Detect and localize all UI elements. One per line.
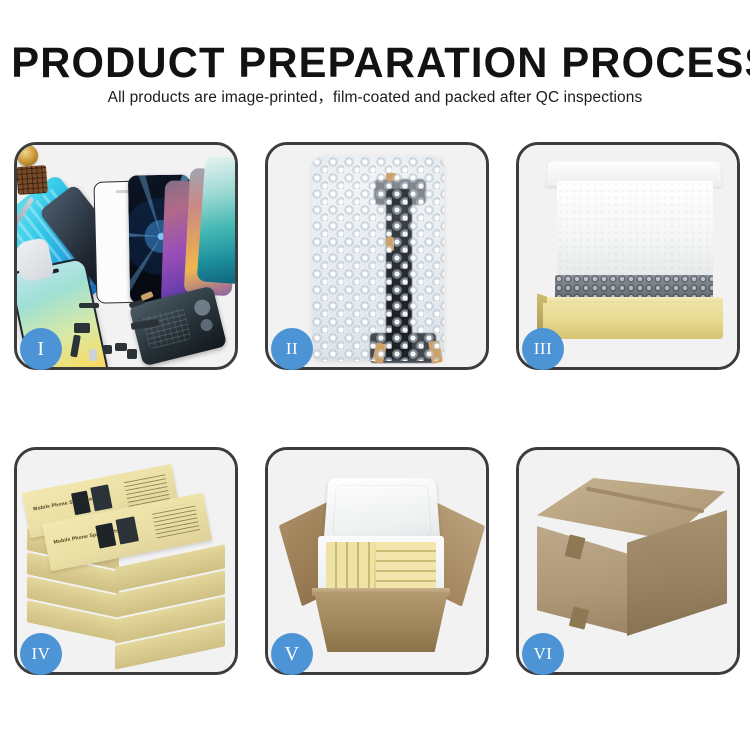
process-step-grid: I II III [0,136,750,686]
carton-tape-lower [569,606,589,629]
bubble-texture-overlay [312,157,444,361]
bga-chip-part [17,165,48,195]
step-badge-1: I [20,328,62,370]
process-step-panel-3[interactable]: III [516,142,740,370]
header: PRODUCT PREPARATION PROCESS All products… [0,0,750,128]
process-step-panel-6[interactable]: VI [516,447,740,675]
packed-yellow-boxes [326,542,436,590]
process-step-panel-1[interactable]: I [14,142,238,370]
step-badge-4: IV [20,633,62,675]
step-badge-5: V [271,633,313,675]
page-subtitle: All products are image-printed，film-coat… [0,88,750,108]
page-title: PRODUCT PREPARATION PROCESS [11,40,739,86]
spare-part-small [115,343,127,351]
spare-part-sim-tray [89,349,97,361]
spare-part-small [103,345,112,354]
process-step-panel-5[interactable]: V [265,447,489,675]
process-step-panel-2[interactable]: II [265,142,489,370]
carton-body [314,592,448,652]
yellow-boxes-flat [376,542,436,590]
spare-part-bracket [74,323,90,333]
step-badge-3: III [522,328,564,370]
styrofoam-lid [323,478,440,545]
box-front-panel [543,303,723,339]
spare-part-small [127,349,137,359]
box-window-dark [71,491,91,516]
copper-coil-part [17,145,38,166]
box-window-dark [90,484,112,511]
bubble-wrap-bag [312,157,444,361]
box-window-dark [115,516,138,544]
process-step-panel-4[interactable]: Mobile Phone Spare Parts Mobile Phone Sp… [14,447,238,675]
spare-part-strip [79,303,99,308]
box-window-dark [95,523,116,549]
step-badge-6: VI [522,633,564,675]
box-spec-lines [151,503,200,539]
white-foam-sheet [557,181,713,277]
yellow-boxes-upright [326,542,374,590]
step-badge-2: II [271,328,313,370]
